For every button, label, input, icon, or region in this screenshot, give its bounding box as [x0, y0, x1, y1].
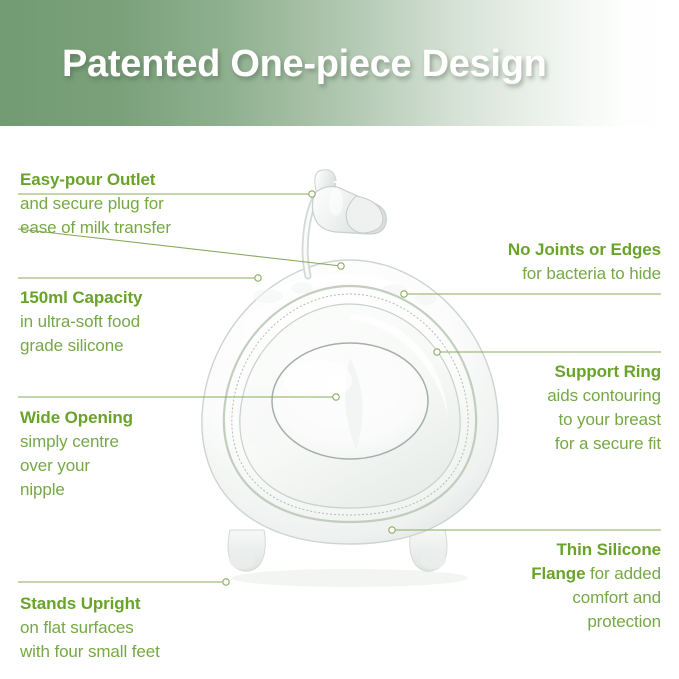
callout-heading: Stands Upright — [20, 594, 140, 613]
callout-stands-upright: Stands Upright on flat surfaces with fou… — [20, 592, 235, 664]
callout-body-line: grade silicone — [20, 336, 124, 355]
callout-no-joints-or-edges: No Joints or Edges for bacteria to hide — [371, 238, 661, 286]
plug-nozzle-tip — [346, 196, 383, 233]
callout-body-line: to your breast — [558, 410, 661, 429]
callout-heading: No Joints or Edges — [508, 240, 661, 259]
callout-capacity: 150ml Capacity in ultra-soft food grade … — [20, 286, 220, 358]
callout-heading: Support Ring — [555, 362, 661, 381]
callout-body-line: comfort and — [572, 588, 661, 607]
callout-heading-continued: Flange — [531, 564, 585, 583]
callout-body-line: and secure plug for — [20, 194, 164, 213]
callout-body-line: for a secure fit — [555, 434, 661, 453]
callout-body-line: protection — [587, 612, 661, 631]
callout-heading: Thin Silicone — [557, 540, 662, 559]
callout-body-line: in ultra-soft food — [20, 312, 140, 331]
callout-heading: Easy-pour Outlet — [20, 170, 155, 189]
callout-body-line: simply centre — [20, 432, 119, 451]
callout-body-line: over your — [20, 456, 90, 475]
callout-body-line: for bacteria to hide — [522, 264, 661, 283]
callout-body-inline: for added — [585, 564, 661, 583]
callout-body-line: aids contouring — [547, 386, 661, 405]
callout-wide-opening: Wide Opening simply centre over your nip… — [20, 406, 220, 502]
callout-thin-silicone-flange: Thin Silicone Flange for added comfort a… — [371, 538, 661, 634]
page-title: Patented One-piece Design — [62, 43, 547, 86]
callout-body-line: with four small feet — [20, 642, 160, 661]
callout-easy-pour-outlet: Easy-pour Outlet and secure plug for eas… — [20, 168, 235, 240]
callout-heading: 150ml Capacity — [20, 288, 142, 307]
callout-body-line: nipple — [20, 480, 65, 499]
callout-body-line: on flat surfaces — [20, 618, 134, 637]
callout-heading: Wide Opening — [20, 408, 133, 427]
callout-body-line: ease of milk transfer — [20, 218, 171, 237]
callout-support-ring: Support Ring aids contouring to your bre… — [371, 360, 661, 456]
